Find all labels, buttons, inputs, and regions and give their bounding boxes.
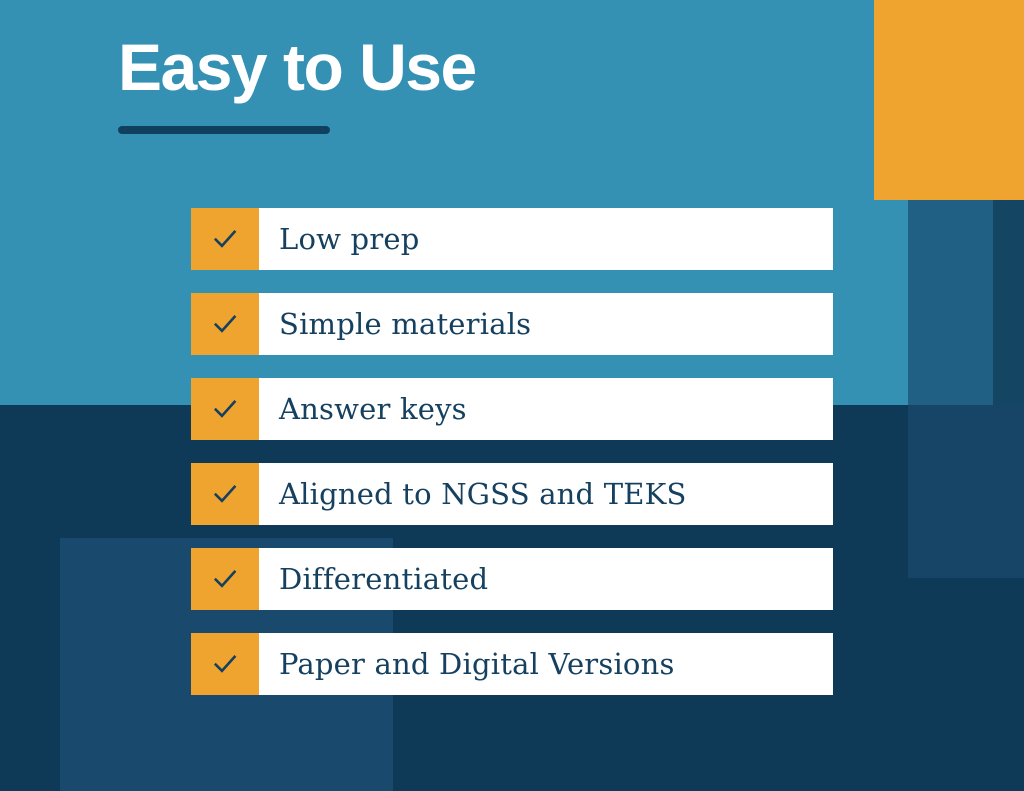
check-icon — [212, 311, 238, 337]
check-icon — [212, 481, 238, 507]
check-icon — [212, 566, 238, 592]
checklist-item-label: Aligned to NGSS and TEKS — [259, 463, 833, 525]
checkmark-badge — [191, 208, 259, 270]
checkmark-badge — [191, 633, 259, 695]
checklist-item-label: Low prep — [259, 208, 833, 270]
checklist-item-label: Simple materials — [259, 293, 833, 355]
checklist-item-6[interactable]: Paper and Digital Versions — [191, 633, 833, 695]
title-block: Easy to Use — [118, 34, 818, 134]
checklist-item-label: Paper and Digital Versions — [259, 633, 833, 695]
background-midblue-column — [908, 200, 993, 405]
page-title: Easy to Use — [118, 34, 818, 100]
checkmark-badge — [191, 463, 259, 525]
slide-canvas: Easy to Use Low prep Simple materials — [0, 0, 1024, 791]
checklist-item-1[interactable]: Low prep — [191, 208, 833, 270]
checkmark-badge — [191, 548, 259, 610]
checkmark-badge — [191, 378, 259, 440]
check-icon — [212, 396, 238, 422]
checklist-item-label: Answer keys — [259, 378, 833, 440]
checklist-item-2[interactable]: Simple materials — [191, 293, 833, 355]
background-navy-right-column — [993, 200, 1024, 405]
background-orange-block — [874, 0, 1024, 200]
feature-checklist: Low prep Simple materials Answer keys — [191, 208, 833, 695]
check-icon — [212, 651, 238, 677]
checklist-item-label: Differentiated — [259, 548, 833, 610]
background-navy-right-block — [908, 405, 1024, 578]
checklist-item-3[interactable]: Answer keys — [191, 378, 833, 440]
checklist-item-5[interactable]: Differentiated — [191, 548, 833, 610]
checkmark-badge — [191, 293, 259, 355]
check-icon — [212, 226, 238, 252]
title-underline-rule — [118, 126, 330, 134]
checklist-item-4[interactable]: Aligned to NGSS and TEKS — [191, 463, 833, 525]
